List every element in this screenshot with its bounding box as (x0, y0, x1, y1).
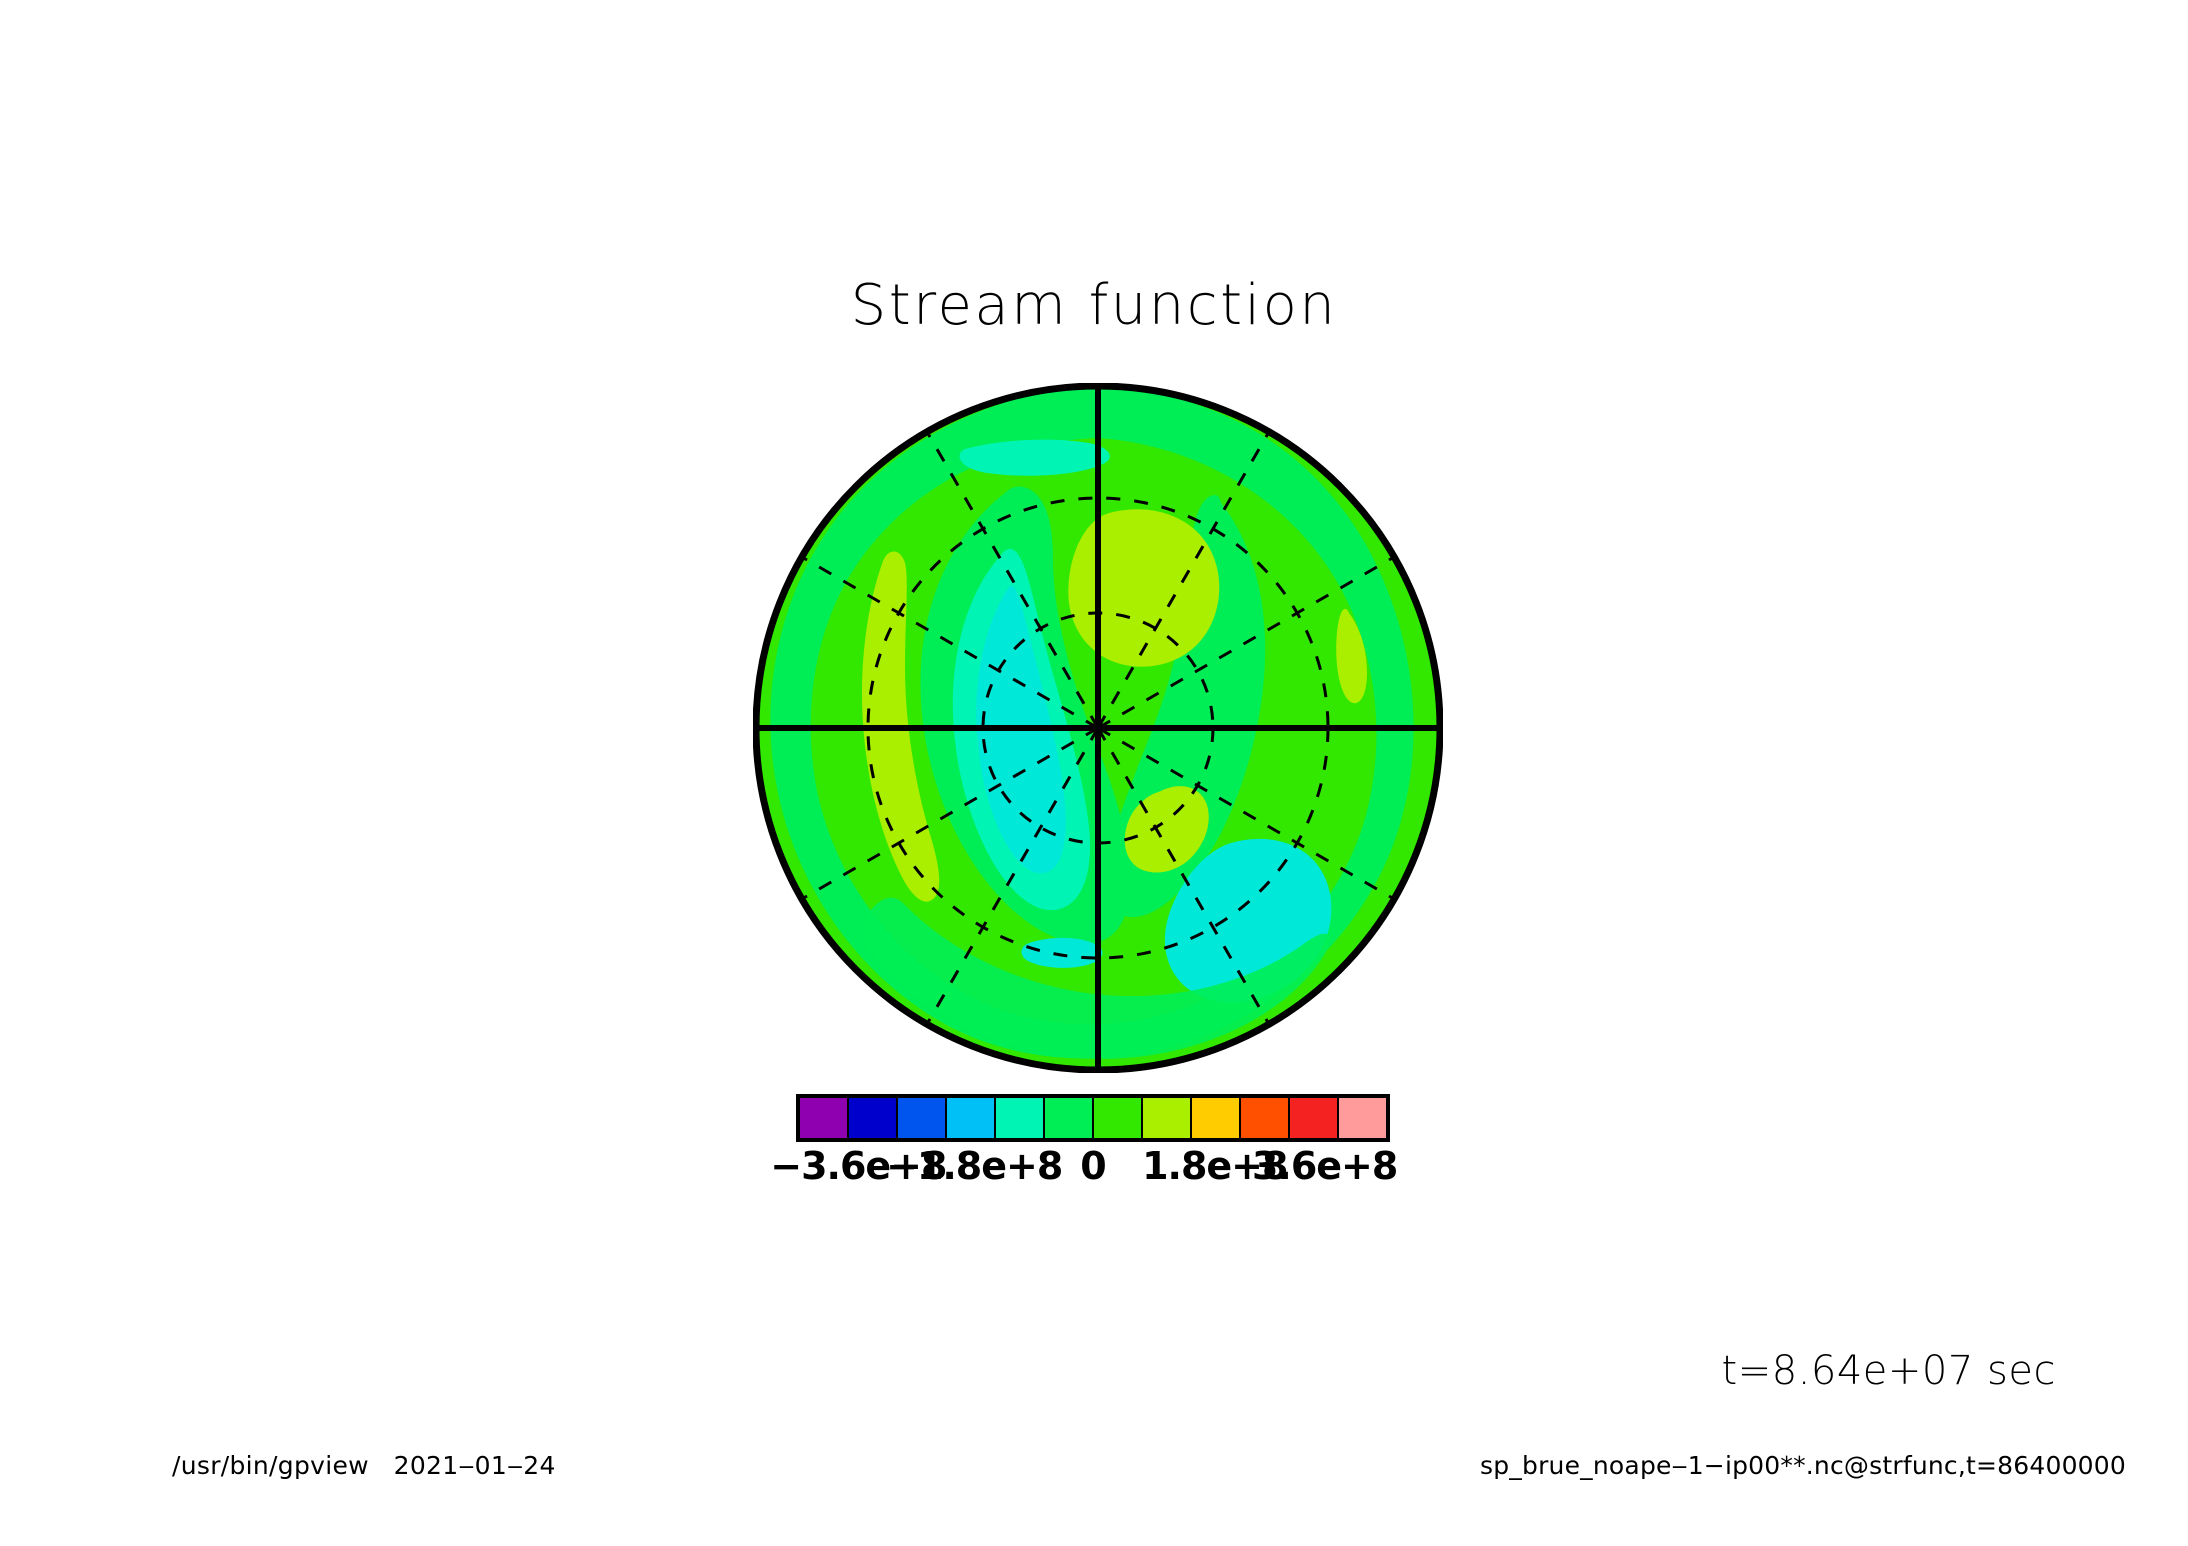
colorbar-cell-gold (1192, 1098, 1241, 1138)
footer-dataset-source: sp_brue_noape‒1−ip00**.nc@strfunc,t=8640… (1480, 1451, 2126, 1480)
colorbar-cell-bright-green (1094, 1098, 1143, 1138)
colorbar-cell-cyan-blue (947, 1098, 996, 1138)
contour-blob-cyan-bottom (1022, 938, 1103, 968)
footer-command-date: /usr/bin/gpview 2021‒01‒24 (172, 1451, 556, 1480)
colorbar-cell-red (1290, 1098, 1339, 1138)
colorbar-cell-orange (1241, 1098, 1290, 1138)
colorbar-tick-2: 0 (1080, 1144, 1105, 1188)
polar-stereographic-plot (753, 383, 1443, 1073)
colorbar-tick-labels: −3.6e+8 −1.8e+8 0 1.8e+8 3.6e+8 (676, 1144, 1516, 1192)
colorbar: −3.6e+8 −1.8e+8 0 1.8e+8 3.6e+8 (796, 1094, 1396, 1204)
contour-patch-yellowgreen-top (1068, 509, 1219, 666)
colorbar-cell-purple (800, 1098, 849, 1138)
colorbar-swatches (796, 1094, 1390, 1142)
page-title: Stream function (0, 278, 2188, 334)
colorbar-tick-1: −1.8e+8 (886, 1144, 1062, 1188)
colorbar-cell-green (1045, 1098, 1094, 1138)
colorbar-cell-dark-blue (849, 1098, 898, 1138)
colorbar-cell-salmon (1339, 1098, 1386, 1138)
time-annotation: t=8.64e+07 sec (1722, 1348, 2056, 1394)
polar-plot-svg (753, 383, 1443, 1073)
colorbar-tick-4: 3.6e+8 (1252, 1144, 1397, 1188)
colorbar-cell-spring-green (996, 1098, 1045, 1138)
colorbar-cell-yellow-green (1143, 1098, 1192, 1138)
figure-canvas: Stream function (0, 0, 2188, 1546)
colorbar-cell-blue (898, 1098, 947, 1138)
